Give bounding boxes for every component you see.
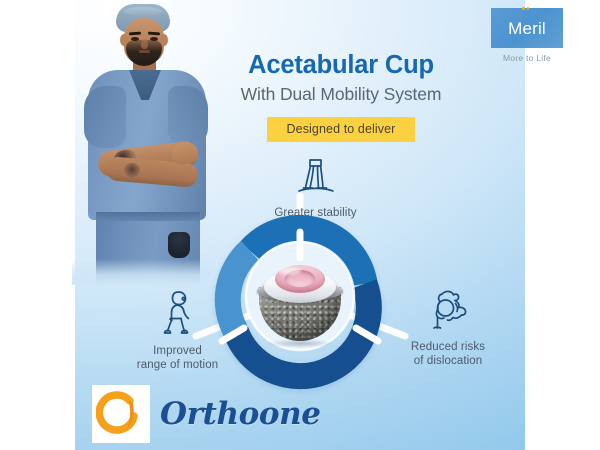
feature-label: Improved range of motion bbox=[110, 344, 245, 373]
specular-highlight bbox=[279, 267, 301, 275]
feature-label: Greater stability bbox=[243, 206, 388, 220]
headline-block: Acetabular Cup With Dual Mobility System… bbox=[196, 52, 486, 142]
walking-person-icon bbox=[158, 289, 198, 337]
page-subtitle: With Dual Mobility System bbox=[196, 85, 486, 104]
shoulder-left bbox=[84, 86, 126, 148]
feature-range-of-motion: Improved range of motion bbox=[110, 289, 245, 373]
acetabular-cup-implant bbox=[255, 263, 345, 345]
surgeon-photo bbox=[72, 0, 212, 285]
nose bbox=[141, 39, 148, 49]
tagline-badge: Designed to deliver bbox=[267, 117, 416, 142]
orthoone-mark-box bbox=[92, 385, 150, 443]
meril-tagline: More to Life bbox=[468, 53, 586, 63]
pocket-item bbox=[168, 232, 190, 258]
left-white-margin bbox=[0, 0, 75, 450]
orthoone-orange-ring-icon bbox=[96, 389, 146, 439]
photo-bottom-fade bbox=[72, 259, 212, 285]
meril-accent-dot-right bbox=[527, 7, 530, 10]
meril-logo: Meril More to Life bbox=[468, 8, 586, 63]
feature-greater-stability: Greater stability bbox=[243, 157, 388, 220]
feature-label-line1: Reduced risks bbox=[411, 341, 485, 353]
feature-label-line2: of dislocation bbox=[414, 355, 483, 367]
standing-legs-balance-icon bbox=[296, 157, 336, 199]
right-white-margin bbox=[525, 0, 600, 450]
feature-label-line1: Improved bbox=[153, 345, 202, 357]
hip-joint-anatomy-icon bbox=[425, 287, 471, 333]
meril-wordmark: Meril bbox=[508, 20, 546, 37]
orthoone-wordmark: Orthoone bbox=[160, 396, 321, 432]
surgical-cap-fold bbox=[124, 7, 162, 16]
feature-reduced-dislocation: Reduced risks of dislocation bbox=[378, 287, 518, 369]
mouth bbox=[139, 50, 150, 53]
scrubs-waistband bbox=[96, 212, 200, 221]
artboard: Meril More to Life Acetabular Cup With D… bbox=[0, 0, 600, 450]
feature-label-line2: range of motion bbox=[137, 359, 218, 371]
eye-right bbox=[150, 37, 158, 41]
feature-label: Reduced risks of dislocation bbox=[378, 340, 518, 369]
meril-accent-dot-left bbox=[522, 7, 525, 10]
orthoone-logo: Orthoone bbox=[92, 385, 321, 443]
meril-logo-box: Meril bbox=[491, 8, 563, 48]
poster-canvas: Meril More to Life Acetabular Cup With D… bbox=[0, 0, 600, 450]
page-title: Acetabular Cup bbox=[196, 52, 486, 79]
eye-left bbox=[131, 37, 139, 41]
